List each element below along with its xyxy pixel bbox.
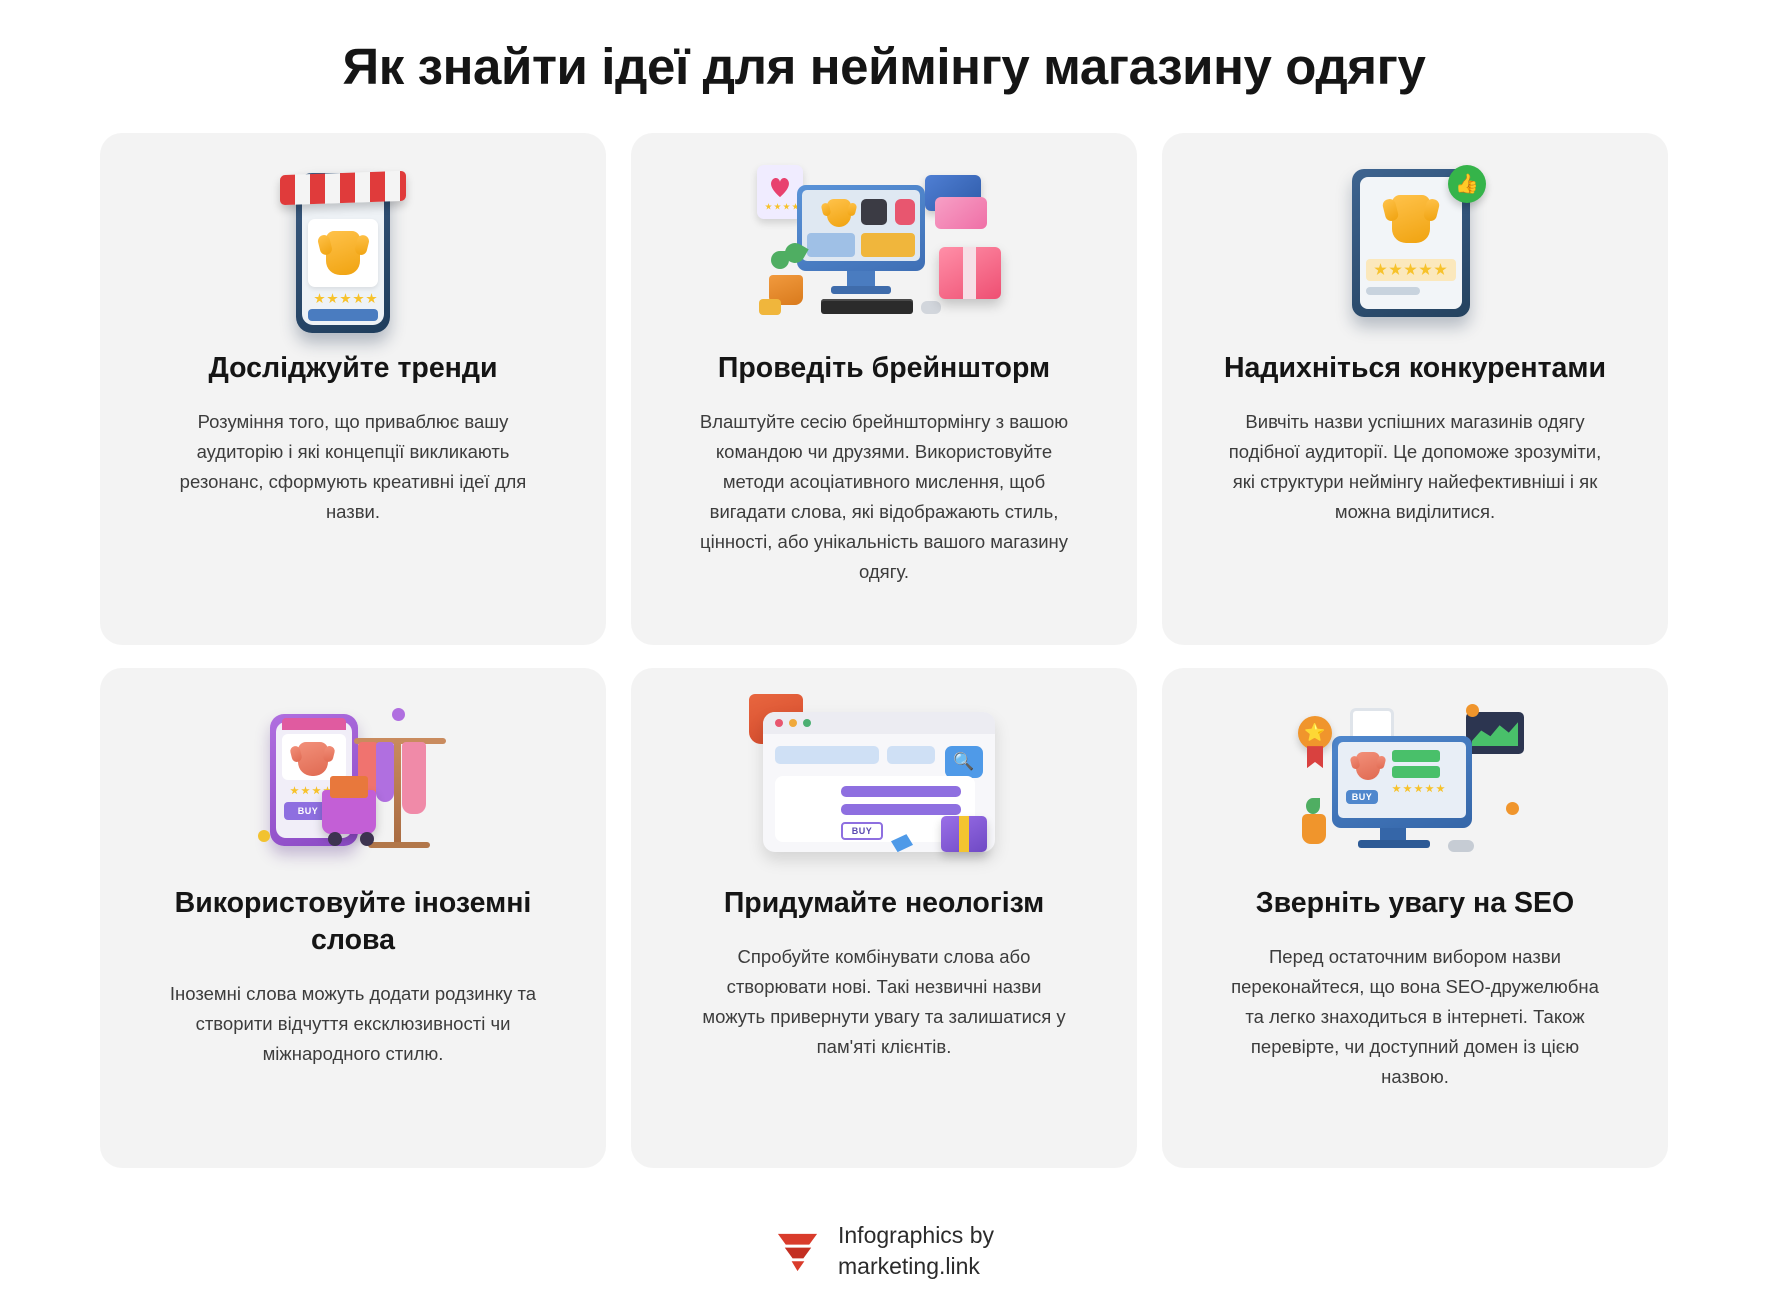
phone-shopping-cart-clothes-rack-icon: BUY (218, 694, 488, 869)
footer-branding: Infographics by marketing.link (100, 1220, 1668, 1307)
card-title: Придумайте неологізм (724, 885, 1044, 922)
card-brainstorm: Проведіть брейншторм Влаштуйте сесію бре… (631, 133, 1137, 645)
thumbs-up-icon: 👍 (1448, 165, 1486, 203)
card-body: Розуміння того, що приваблює вашу аудито… (166, 407, 541, 527)
search-icon: 🔍 (945, 746, 983, 778)
card-body: Спробуйте комбінувати слова або створюва… (697, 942, 1072, 1062)
desktop-ecommerce-gift-plant-icon (749, 159, 1019, 334)
footer-line-2: marketing.link (838, 1251, 994, 1281)
cards-grid: Досліджуйте тренди Розуміння того, що пр… (100, 133, 1668, 1168)
marketing-link-logo-icon (774, 1227, 821, 1274)
card-neologism: 🔍 BUY Придумайте неологізм Спробуйте ком… (631, 668, 1137, 1168)
card-competitors: 👍 Надихніться конкурентами Вивчіть назви… (1162, 133, 1668, 645)
card-title: Надихніться конкурентами (1224, 350, 1606, 387)
card-research-trends: Досліджуйте тренди Розуміння того, що пр… (100, 133, 606, 645)
page-title: Як знайти ідеї для неймінгу магазину одя… (100, 38, 1668, 95)
award-icon: ⭐ (1298, 716, 1332, 750)
card-title: Використовуйте іноземні слова (130, 885, 576, 959)
card-seo: BUY ⭐ Зверніть увагу на SEO Перед остато… (1162, 668, 1668, 1168)
card-title: Проведіть брейншторм (718, 350, 1050, 387)
card-body: Влаштуйте сесію брейнштормінгу з вашою к… (697, 407, 1072, 587)
phone-storefront-tshirt-rating-icon (218, 159, 488, 334)
browser-search-shirt-gift-icon: 🔍 BUY (749, 694, 1019, 869)
card-body: Іноземні слова можуть додати родзинку та… (166, 979, 541, 1069)
card-foreign-words: BUY Використовуйте іноземні слова Інозем… (100, 668, 606, 1168)
product-card-thumbs-up-stars-icon: 👍 (1280, 159, 1550, 334)
footer-text: Infographics by marketing.link (838, 1220, 994, 1281)
footer-line-1: Infographics by (838, 1220, 994, 1250)
card-title: Зверніть увагу на SEO (1256, 885, 1574, 922)
card-body: Вивчіть назви успішних магазинів одягу п… (1228, 407, 1603, 527)
card-body: Перед остаточним вибором назви переконай… (1228, 942, 1603, 1092)
seo-monitor-award-chart-icon: BUY ⭐ (1280, 694, 1550, 869)
card-title: Досліджуйте тренди (209, 350, 498, 387)
infographic-page: Як знайти ідеї для неймінгу магазину одя… (0, 0, 1768, 1307)
